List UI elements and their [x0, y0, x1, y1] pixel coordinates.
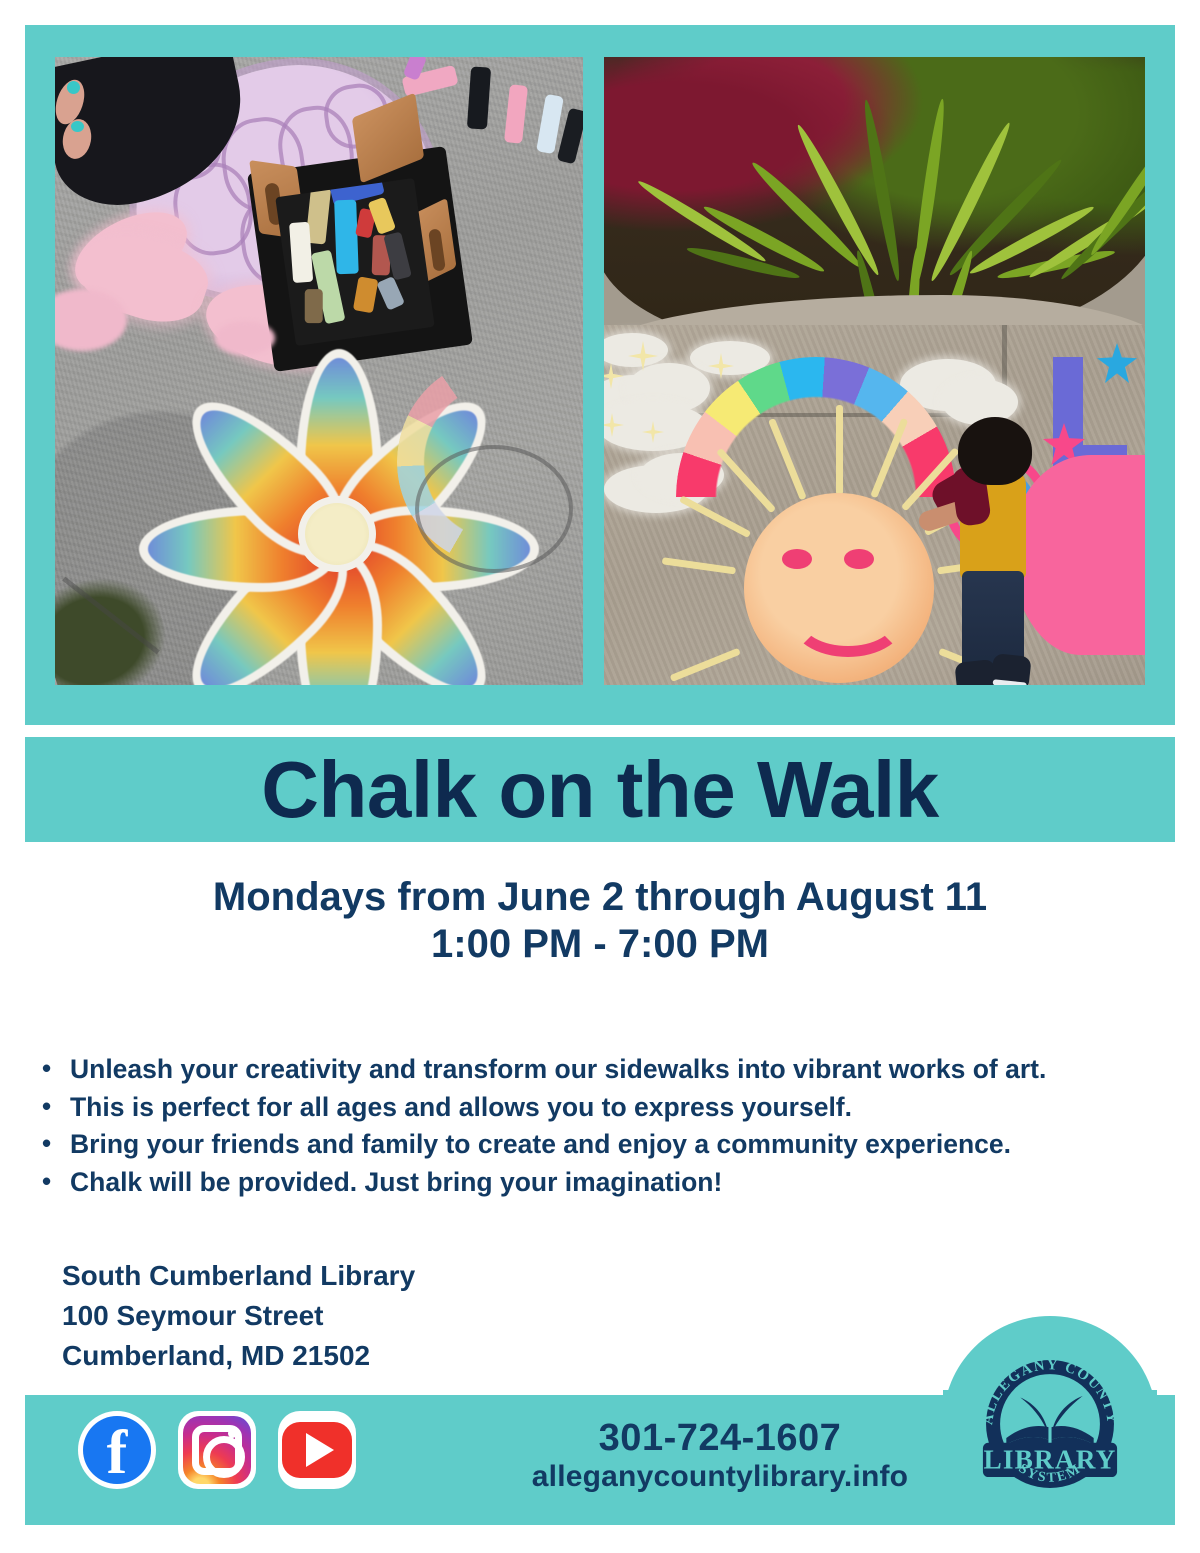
library-logo: LIBRARY ALLEGANY COUNTY SYSTEM — [972, 1346, 1128, 1502]
list-item: This is perfect for all ages and allows … — [36, 1089, 1176, 1127]
venue-city-state-zip: Cumberland, MD 21502 — [62, 1336, 415, 1376]
youtube-icon[interactable] — [278, 1411, 356, 1489]
hero-photo-band — [25, 25, 1175, 725]
instagram-icon[interactable] — [178, 1411, 256, 1489]
flyer-page: Chalk on the Walk Mondays from June 2 th… — [0, 0, 1200, 1553]
event-schedule: Mondays from June 2 through August 11 1:… — [0, 874, 1200, 968]
child-drawing-with-chalk — [934, 409, 1054, 685]
hero-photo-right — [604, 57, 1145, 685]
hero-photo-left — [55, 57, 583, 685]
schedule-dates: Mondays from June 2 through August 11 — [0, 874, 1200, 921]
phone-number[interactable]: 301-724-1607 — [525, 1417, 915, 1460]
facebook-icon[interactable]: f — [78, 1411, 156, 1489]
venue-name: South Cumberland Library — [62, 1256, 415, 1296]
contact-info: 301-724-1607 alleganycountylibrary.info — [525, 1417, 915, 1493]
website-url[interactable]: alleganycountylibrary.info — [525, 1460, 915, 1494]
list-item: Bring your friends and family to create … — [36, 1126, 1176, 1164]
venue-address: South Cumberland Library 100 Seymour Str… — [62, 1256, 415, 1375]
list-item: Unleash your creativity and transform ou… — [36, 1051, 1176, 1089]
social-links: f — [78, 1411, 356, 1489]
venue-street: 100 Seymour Street — [62, 1296, 415, 1336]
list-item: Chalk will be provided. Just bring your … — [36, 1164, 1176, 1202]
page-title: Chalk on the Walk — [261, 750, 939, 830]
facebook-glyph: f — [78, 1411, 156, 1489]
schedule-times: 1:00 PM - 7:00 PM — [0, 921, 1200, 968]
event-details-list: Unleash your creativity and transform ou… — [36, 1051, 1176, 1202]
title-banner: Chalk on the Walk — [25, 737, 1175, 842]
